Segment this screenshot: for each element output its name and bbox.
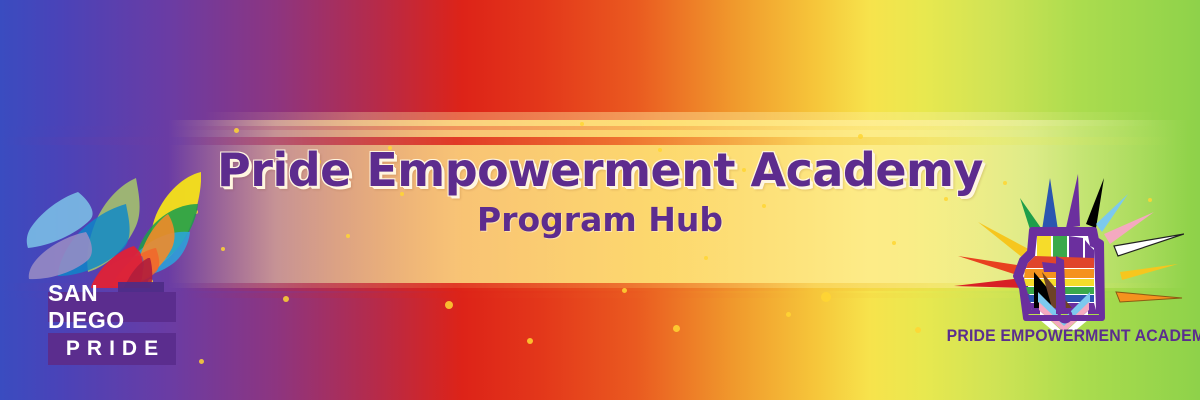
san-diego-pride-logo: SAN DIEGO PRIDE xyxy=(26,170,211,375)
sparkle-dot xyxy=(673,325,680,332)
pride-label: PRIDE xyxy=(48,333,176,365)
sparkle-dot xyxy=(221,247,225,251)
sparkle-dot xyxy=(858,134,863,139)
sparkle-dot xyxy=(315,159,321,165)
fist-shape xyxy=(1016,230,1102,330)
sparkle-dot xyxy=(622,288,627,293)
sparkle-dot xyxy=(468,174,473,179)
sparkle-dot xyxy=(915,327,921,333)
sparkle-dot xyxy=(445,301,453,309)
sparkle-dot xyxy=(742,168,746,172)
pride-empowerment-academy-logo: PRIDE EMPOWERMENT ACADEMY xyxy=(938,168,1184,368)
band-stripe-upper xyxy=(0,137,1200,145)
sparkle-dot xyxy=(234,128,239,133)
sparkle-dot xyxy=(346,234,350,238)
band-top-glow xyxy=(0,112,1200,126)
sparkle-dot xyxy=(580,122,584,126)
sparkle-dot xyxy=(551,221,555,225)
sparkle-dot xyxy=(658,148,662,152)
sparkle-dot xyxy=(786,312,791,317)
sparkle-dot xyxy=(762,204,766,208)
san-diego-label: SAN DIEGO xyxy=(48,292,176,322)
raised-fist-icon xyxy=(938,168,1184,330)
sparkle-dot xyxy=(892,241,896,245)
sd-pride-flame-icon xyxy=(26,170,201,290)
page-title: Pride Empowerment Academy xyxy=(217,147,983,193)
sparkle-dot xyxy=(400,192,404,196)
sparkle-dot xyxy=(704,256,708,260)
sparkle-dot xyxy=(388,146,392,150)
sparkle-dot xyxy=(527,338,533,344)
pride-banner: SAN DIEGO PRIDE xyxy=(0,0,1200,400)
page-subtitle: Program Hub xyxy=(477,203,723,236)
band-stripe-upper-thin xyxy=(0,126,1200,130)
sparkle-dot xyxy=(283,296,289,302)
sparkle-dot xyxy=(821,292,831,302)
academy-wordmark: PRIDE EMPOWERMENT ACADEMY xyxy=(947,326,1176,346)
